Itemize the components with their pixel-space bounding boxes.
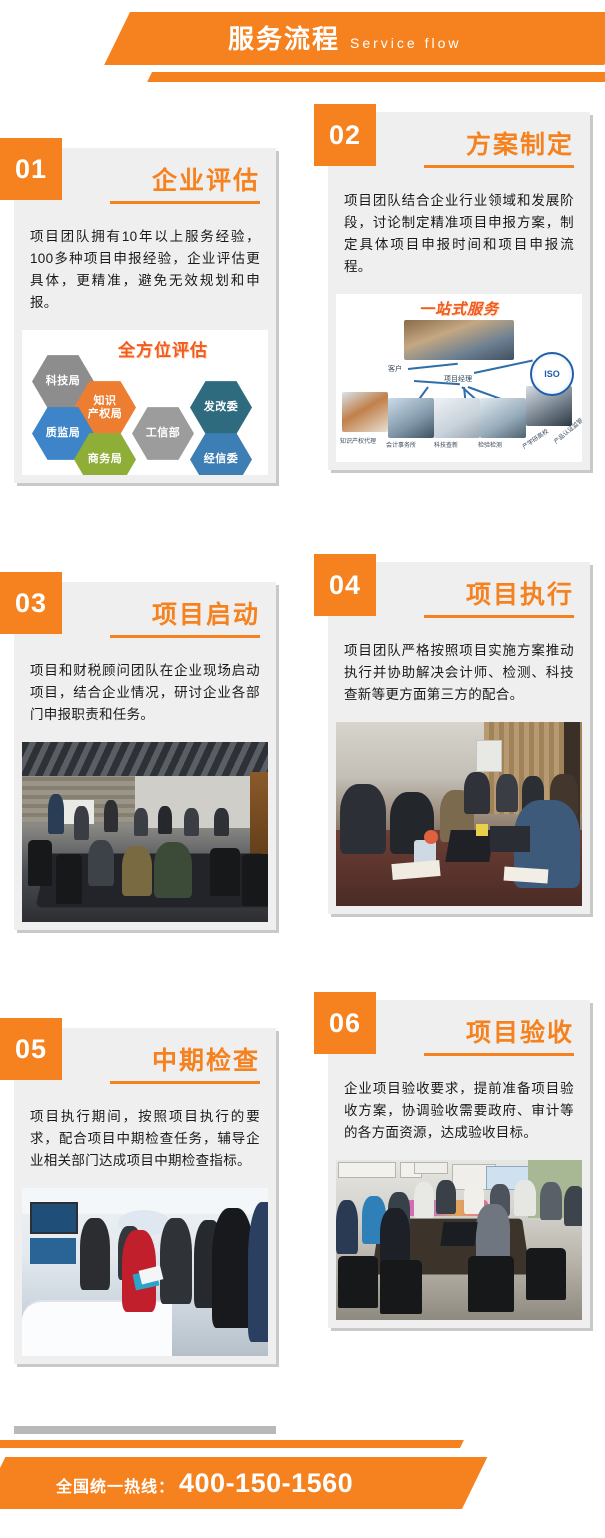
step-number-badge-02: 02	[314, 104, 376, 166]
one-stop-label-customer: 客户	[388, 364, 402, 374]
photo-project-acceptance	[336, 1160, 582, 1320]
card-row-2: 03 项目启动 项目和财税顾问团队在企业现场启动项目，结合企业情况，研讨企业各部…	[0, 572, 605, 1032]
photo-project-execution	[336, 722, 582, 906]
one-stop-diagram: 一站式服务 客户 项目经理 ISO	[336, 294, 582, 462]
page-footer: 全国统一热线： 400-150-1560	[0, 1426, 605, 1538]
card-body-01: 项目团队拥有10年以上服务经验，100多种项目申报经验，企业评估更具体，更精准，…	[14, 212, 276, 330]
card-title-02: 方案制定	[466, 130, 574, 160]
card-media-03	[22, 742, 268, 922]
card-title-01: 企业评估	[152, 166, 260, 196]
one-stop-hub-photo	[404, 320, 514, 360]
step-number-badge-05: 05	[0, 1018, 62, 1080]
step-card-02[interactable]: 02 方案制定 项目团队结合企业行业领域和发展阶段，讨论制定精准项目申报方案，制…	[328, 112, 590, 470]
one-stop-node-accounting	[388, 398, 434, 438]
photo-midterm-inspection	[22, 1188, 268, 1356]
step-card-03[interactable]: 03 项目启动 项目和财税顾问团队在企业现场启动项目，结合企业情况，研讨企业各部…	[14, 582, 276, 930]
hex-node-fagai: 发改委	[190, 380, 252, 435]
page-header: 服务流程 Service flow	[0, 0, 605, 112]
hex-node-jingxin: 经信委	[190, 432, 252, 475]
card-media-02: 一站式服务 客户 项目经理 ISO	[336, 294, 582, 462]
card-row-1: 01 企业评估 项目团队拥有10年以上服务经验，100多种项目申报经验，企业评估…	[0, 112, 605, 572]
one-stop-iso-seal: ISO	[530, 352, 574, 396]
one-stop-caption-4: 检验检测	[478, 440, 502, 449]
title-underline-06	[424, 1053, 574, 1056]
card-media-05	[22, 1188, 268, 1356]
step-number-badge-06: 06	[314, 992, 376, 1054]
footer-gray-cap	[14, 1426, 276, 1434]
one-stop-node-testing	[480, 398, 526, 438]
step-card-01[interactable]: 01 企业评估 项目团队拥有10年以上服务经验，100多种项目申报经验，企业评估…	[14, 148, 276, 483]
hex-node-gongxin: 工信部	[132, 406, 194, 461]
one-stop-arrow-6	[474, 360, 533, 374]
step-card-04[interactable]: 04 项目执行 项目团队严格按照项目实施方案推动执行并协助解决会计师、检测、科技…	[328, 562, 590, 914]
card-title-03: 项目启动	[152, 600, 260, 630]
header-accent-stripe	[147, 72, 605, 82]
one-stop-node-ip	[342, 392, 388, 432]
one-stop-node-search	[434, 398, 480, 438]
step-number-badge-01: 01	[0, 138, 62, 200]
card-body-06: 企业项目验收要求，提前准备项目验收方案，协调验收需要政府、审计等的各方面资源，达…	[328, 1064, 590, 1160]
step-number-badge-04: 04	[314, 554, 376, 616]
hotline-label: 全国统一热线：	[56, 1473, 175, 1497]
one-stop-title: 一站式服务	[419, 298, 499, 319]
card-body-05: 项目执行期间，按照项目执行的要求，配合项目中期检查任务，辅导企业相关部门达成项目…	[14, 1092, 276, 1188]
card-body-03: 项目和财税顾问团队在企业现场启动项目，结合企业情况，研讨企业各部门申报职责和任务…	[14, 646, 276, 742]
page-title: 服务流程	[228, 22, 340, 56]
card-body-02: 项目团队结合企业行业领域和发展阶段，讨论制定精准项目申报方案，制定具体项目申报时…	[328, 176, 590, 294]
photo-project-kickoff	[22, 742, 268, 922]
title-underline-04	[424, 615, 574, 618]
card-title-05: 中期检查	[152, 1046, 260, 1076]
footer-accent-stripe	[0, 1440, 464, 1448]
hexagon-diagram-title: 全方位评估	[118, 336, 208, 361]
card-row-3: 05 中期检查 项目执行期间，按照项目执行的要求，配合项目中期检查任务，辅导企业…	[0, 1032, 605, 1492]
card-media-04	[336, 722, 582, 906]
card-body-04: 项目团队严格按照项目实施方案推动执行并协助解决会计师、检测、科技查新等更方面第三…	[328, 626, 590, 722]
one-stop-caption-2: 会计事务所	[386, 440, 416, 449]
one-stop-caption-3: 科技查新	[434, 440, 458, 449]
hotline-number[interactable]: 400-150-1560	[179, 1468, 353, 1499]
card-grid: 01 企业评估 项目团队拥有10年以上服务经验，100多种项目申报经验，企业评估…	[0, 112, 605, 1492]
card-media-06	[336, 1160, 582, 1320]
title-underline-02	[424, 165, 574, 168]
step-card-05[interactable]: 05 中期检查 项目执行期间，按照项目执行的要求，配合项目中期检查任务，辅导企业…	[14, 1028, 276, 1364]
page-subtitle: Service flow	[350, 35, 461, 51]
hotline-group: 全国统一热线： 400-150-1560	[56, 1468, 353, 1499]
hexagon-diagram: 全方位评估 科技局 知识产权局 质监局 商务局 工信部 发改委 经信委	[22, 330, 268, 475]
card-media-01: 全方位评估 科技局 知识产权局 质监局 商务局 工信部 发改委 经信委	[22, 330, 268, 475]
card-title-04: 项目执行	[466, 580, 574, 610]
title-underline-01	[110, 201, 260, 204]
step-card-06[interactable]: 06 项目验收 企业项目验收要求，提前准备项目验收方案，协调验收需要政府、审计等…	[328, 1000, 590, 1328]
one-stop-caption-1: 知识产权代理	[340, 436, 376, 445]
one-stop-arrow-1	[408, 363, 458, 370]
title-underline-05	[110, 1081, 260, 1084]
card-title-06: 项目验收	[466, 1018, 574, 1048]
step-number-badge-03: 03	[0, 572, 62, 634]
header-title-group: 服务流程 Service flow	[228, 22, 461, 56]
title-underline-03	[110, 635, 260, 638]
